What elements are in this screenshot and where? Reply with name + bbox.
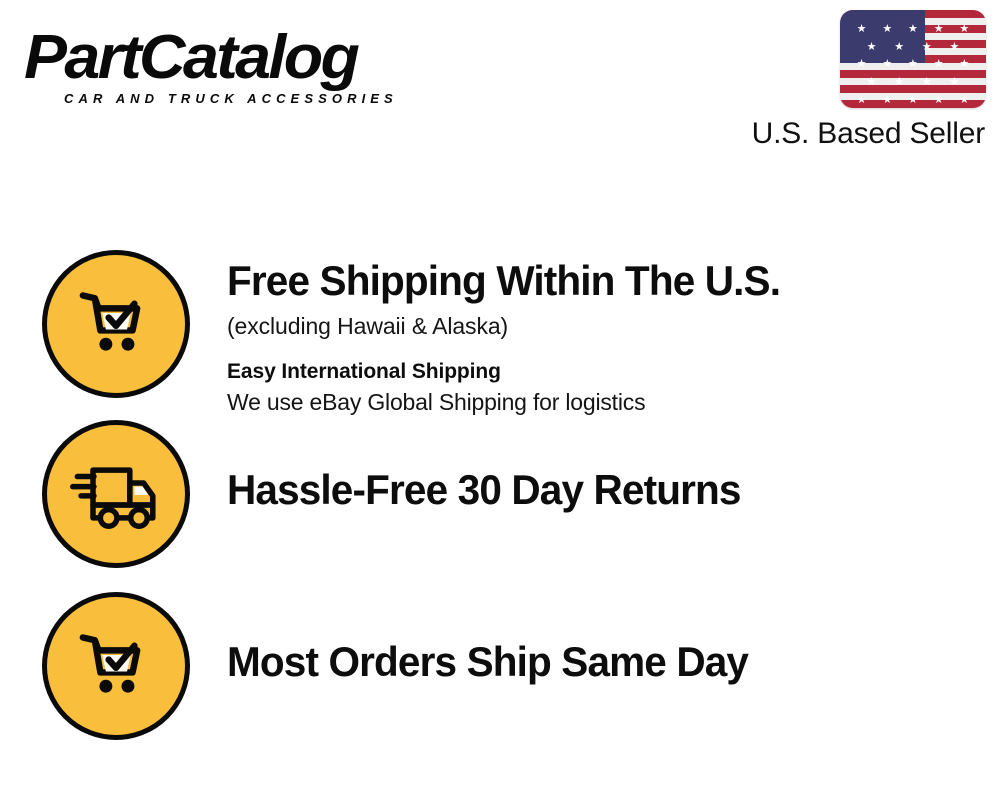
brand-logo[interactable]: PartCatalog CAR AND TRUCK ACCESSORIES — [24, 26, 494, 116]
feature-text-block: Most Orders Ship Same Day — [190, 592, 972, 686]
feature-headline: Free Shipping Within The U.S. — [227, 257, 946, 305]
feature-subhead-note: We use eBay Global Shipping for logistic… — [227, 387, 972, 417]
shopping-cart-check-icon — [42, 250, 190, 398]
feature-text-block: Hassle-Free 30 Day Returns — [190, 420, 972, 514]
shopping-cart-check-icon — [42, 592, 190, 740]
feature-item-same-day-ship: Most Orders Ship Same Day — [42, 592, 972, 740]
us-based-seller-badge: ★★★★★ ★★★★ ★★★★★ ★★★★ ★★★★★ U.S. Based S… — [714, 10, 986, 152]
feature-text-block: Free Shipping Within The U.S. (excluding… — [190, 250, 972, 417]
feature-item-returns: Hassle-Free 30 Day Returns — [42, 420, 972, 568]
feature-subline: (excluding Hawaii & Alaska) — [227, 311, 972, 341]
brand-tagline: CAR AND TRUCK ACCESSORIES — [64, 91, 494, 106]
delivery-truck-icon — [42, 420, 190, 568]
feature-headline: Hassle-Free 30 Day Returns — [227, 466, 946, 514]
seller-label: U.S. Based Seller — [714, 116, 985, 152]
page-header: PartCatalog CAR AND TRUCK ACCESSORIES — [0, 0, 1000, 170]
flag-stars: ★★★★★ ★★★★ ★★★★★ ★★★★ ★★★★★ — [840, 10, 986, 108]
feature-item-free-shipping: Free Shipping Within The U.S. (excluding… — [42, 250, 972, 417]
feature-subhead: Easy International Shipping — [227, 358, 972, 385]
feature-headline: Most Orders Ship Same Day — [227, 638, 946, 686]
brand-wordmark: PartCatalog — [24, 26, 513, 90]
us-flag-icon: ★★★★★ ★★★★ ★★★★★ ★★★★ ★★★★★ — [840, 10, 986, 108]
